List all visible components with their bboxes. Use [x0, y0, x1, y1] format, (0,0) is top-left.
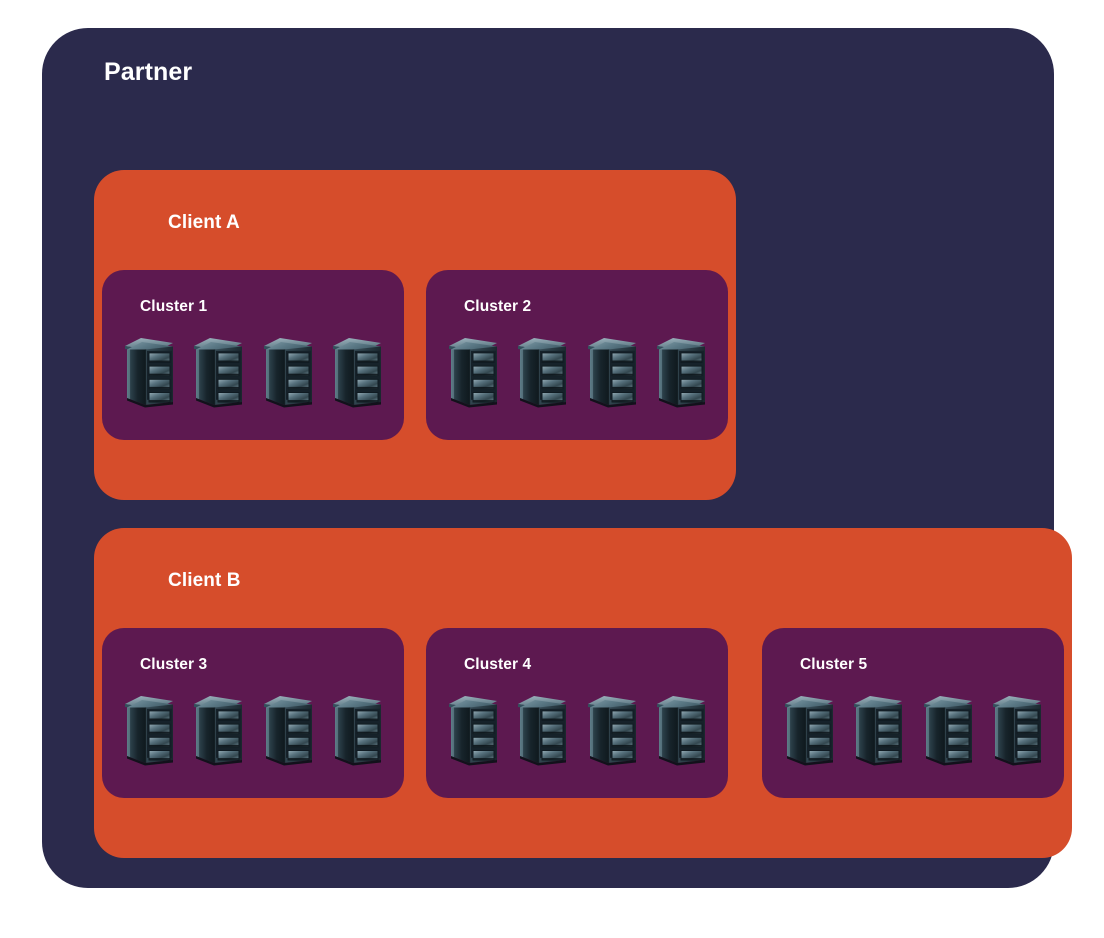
client-title-b: Client B — [168, 570, 241, 592]
server-rack-icon — [922, 690, 974, 772]
cluster-container-5: Cluster 5 — [762, 628, 1064, 798]
server-rack-icon — [852, 690, 904, 772]
rack-group-cluster-3 — [114, 690, 392, 785]
cluster-container-2: Cluster 2 — [426, 270, 728, 440]
client-container-a: Client A Cluster 1 — [94, 170, 736, 500]
partner-title: Partner — [104, 58, 192, 87]
server-rack-icon — [447, 690, 499, 772]
server-rack-icon — [331, 332, 383, 414]
rack-group-cluster-2 — [438, 332, 716, 427]
cluster-title-2: Cluster 2 — [464, 298, 531, 316]
cluster-container-4: Cluster 4 — [426, 628, 728, 798]
server-rack-icon — [331, 690, 383, 772]
server-rack-icon — [262, 332, 314, 414]
cluster-title-5: Cluster 5 — [800, 656, 867, 674]
server-rack-icon — [783, 690, 835, 772]
server-rack-icon — [516, 690, 568, 772]
server-rack-icon — [123, 690, 175, 772]
rack-group-cluster-5 — [774, 690, 1052, 785]
cluster-title-1: Cluster 1 — [140, 298, 207, 316]
server-rack-icon — [192, 690, 244, 772]
partner-container: Partner Client A Cluster 1 — [42, 28, 1054, 888]
cluster-title-4: Cluster 4 — [464, 656, 531, 674]
server-rack-icon — [516, 332, 568, 414]
server-rack-icon — [192, 332, 244, 414]
server-rack-icon — [123, 332, 175, 414]
diagram-canvas: Partner Client A Cluster 1 — [0, 0, 1104, 938]
cluster-title-3: Cluster 3 — [140, 656, 207, 674]
cluster-container-3: Cluster 3 — [102, 628, 404, 798]
server-rack-icon — [262, 690, 314, 772]
server-rack-icon — [586, 690, 638, 772]
server-rack-icon — [991, 690, 1043, 772]
server-rack-icon — [655, 332, 707, 414]
server-rack-icon — [586, 332, 638, 414]
server-rack-icon — [447, 332, 499, 414]
client-container-b: Client B Cluster 3 — [94, 528, 1072, 858]
rack-group-cluster-1 — [114, 332, 392, 427]
server-rack-icon — [655, 690, 707, 772]
rack-group-cluster-4 — [438, 690, 716, 785]
client-title-a: Client A — [168, 212, 240, 234]
cluster-container-1: Cluster 1 — [102, 270, 404, 440]
